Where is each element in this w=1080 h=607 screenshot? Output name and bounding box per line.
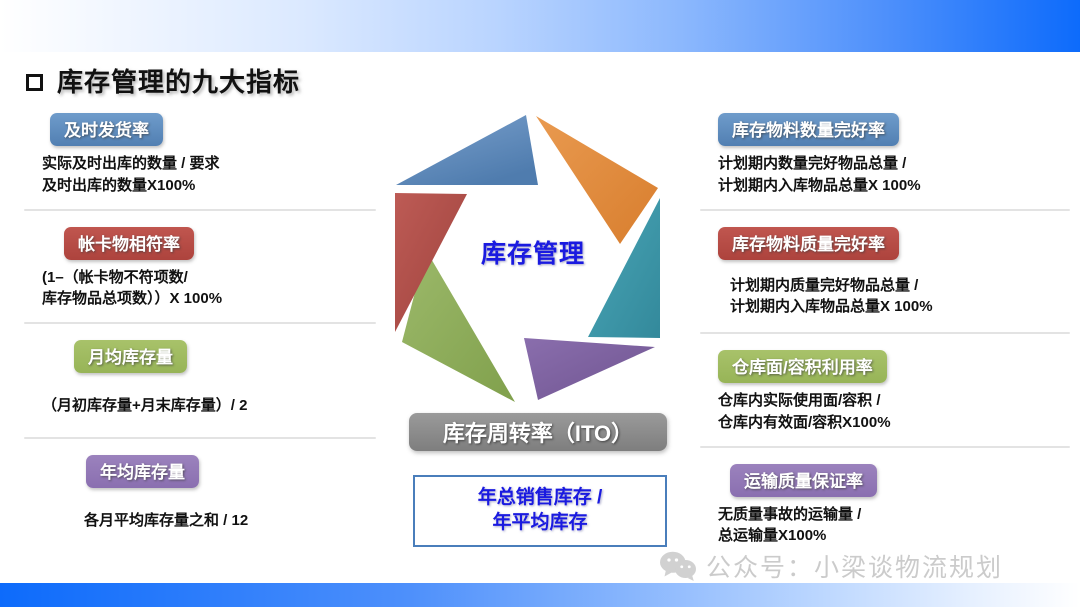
bottom-gradient-bar [0, 583, 1080, 607]
metric-formula: 实际及时出库的数量 / 要求 及时出库的数量X100% [42, 153, 376, 197]
slide-canvas: 库存管理的九大指标 及时发货率 实际及时出库的数量 / 要求 及时出库的数量X1… [0, 0, 1080, 607]
pinwheel-blue-blade [396, 115, 538, 185]
metric-item-timely-delivery[interactable]: 及时发货率 实际及时出库的数量 / 要求 及时出库的数量X100% [24, 113, 376, 197]
metric-formula: 计划期内数量完好物品总量 / 计划期内入库物品总量X 100% [718, 153, 1070, 197]
ito-formula-line1: 年总销售库存 / [478, 486, 603, 511]
square-bullet-icon [26, 74, 43, 91]
watermark: 公众号：小梁谈物流规划 [660, 548, 1003, 584]
metric-label-badge: 帐卡物相符率 [64, 227, 194, 260]
metric-item-material-quality-intact[interactable]: 库存物料质量完好率 计划期内质量完好物品总量 / 计划期内入库物品总量X 100… [700, 227, 1070, 319]
metric-item-record-match[interactable]: 帐卡物相符率 (1–（帐卡物不符项数/ 库存物品总项数））X 100% [24, 227, 376, 311]
pinwheel-orange-blade [536, 116, 658, 244]
ito-formula-line2: 年平均库存 [492, 511, 587, 536]
metric-item-yearly-avg-stock[interactable]: 年均库存量 各月平均库存量之和 / 12 [24, 455, 376, 532]
metric-label-badge: 库存物料数量完好率 [718, 113, 899, 146]
ito-title-badge: 库存周转率（ITO） [409, 413, 667, 451]
metric-label-badge: 及时发货率 [50, 113, 163, 146]
spacer [700, 334, 1070, 350]
metric-formula: （月初库存量+月末库存量）/ 2 [42, 395, 376, 417]
spacer [24, 324, 376, 340]
spacer [24, 211, 376, 227]
metric-formula: 仓库内实际使用面/容积 / 仓库内有效面/容积X100% [718, 390, 1070, 434]
metric-formula: (1–（帐卡物不符项数/ 库存物品总项数））X 100% [42, 267, 376, 311]
spacer [700, 211, 1070, 227]
metric-label-badge: 库存物料质量完好率 [718, 227, 899, 260]
metric-label-badge: 月均库存量 [74, 340, 187, 373]
metric-item-material-qty-intact[interactable]: 库存物料数量完好率 计划期内数量完好物品总量 / 计划期内入库物品总量X 100… [700, 113, 1070, 197]
pinwheel-purple-blade [524, 338, 655, 400]
pinwheel-diagram: 库存管理 [383, 102, 683, 402]
metric-label-badge: 年均库存量 [86, 455, 199, 488]
metric-formula: 无质量事故的运输量 / 总运输量X100% [718, 504, 1070, 548]
watermark-text: 公众号：小梁谈物流规划 [706, 548, 1003, 584]
page-title: 库存管理的九大指标 [26, 62, 300, 99]
metric-label-badge: 仓库面/容积利用率 [718, 350, 887, 383]
spacer [24, 439, 376, 455]
metric-label-badge: 运输质量保证率 [730, 464, 877, 497]
pinwheel-center-label: 库存管理 [383, 234, 683, 270]
left-metrics-column: 及时发货率 实际及时出库的数量 / 要求 及时出库的数量X100% 帐卡物相符率… [24, 113, 376, 532]
metric-item-monthly-avg-stock[interactable]: 月均库存量 （月初库存量+月末库存量）/ 2 [24, 340, 376, 417]
metric-formula: 计划期内质量完好物品总量 / 计划期内入库物品总量X 100% [730, 275, 1070, 319]
top-gradient-bar [0, 0, 1080, 52]
metric-item-warehouse-utilization[interactable]: 仓库面/容积利用率 仓库内实际使用面/容积 / 仓库内有效面/容积X100% [700, 350, 1070, 434]
right-metrics-column: 库存物料数量完好率 计划期内数量完好物品总量 / 计划期内入库物品总量X 100… [700, 113, 1070, 547]
wechat-icon [660, 551, 696, 581]
spacer [700, 448, 1070, 464]
page-title-text: 库存管理的九大指标 [57, 62, 300, 99]
ito-formula-box: 年总销售库存 / 年平均库存 [413, 475, 667, 547]
metric-item-transport-quality[interactable]: 运输质量保证率 无质量事故的运输量 / 总运输量X100% [700, 464, 1070, 548]
metric-formula: 各月平均库存量之和 / 12 [84, 510, 376, 532]
